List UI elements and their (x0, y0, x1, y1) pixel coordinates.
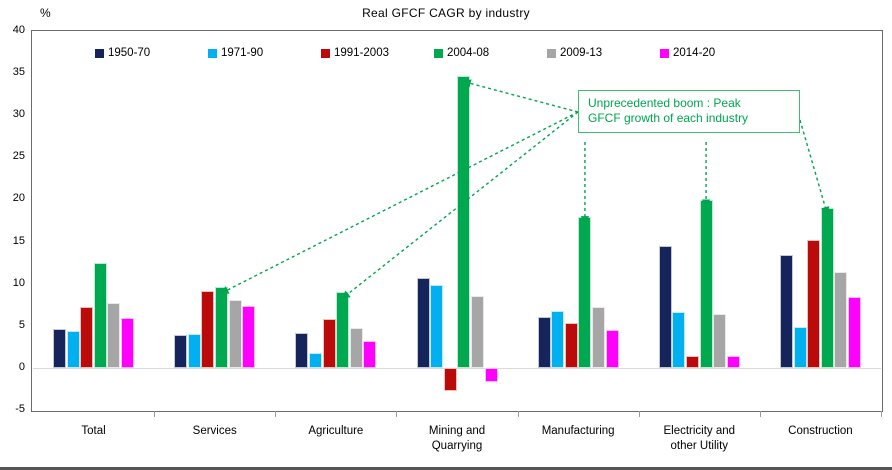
x-axis-label-line: Quarrying (429, 439, 485, 454)
bar (67, 331, 80, 368)
y-axis-tick-label: 15 (13, 235, 25, 247)
bar (686, 356, 699, 368)
bar (672, 312, 685, 368)
bar (350, 328, 363, 368)
bar (606, 330, 619, 368)
chart-container: % Real GFCF CAGR by industry 40353025201… (0, 0, 892, 470)
bar (659, 246, 672, 368)
x-axis-tick (518, 411, 519, 417)
bar (471, 296, 484, 368)
y-axis-tick-label: 20 (13, 192, 25, 204)
x-axis-tick (639, 411, 640, 417)
annotation-peak-growth-callout: Unprecedented boom : Peak GFCF growth of… (578, 90, 800, 133)
bar (309, 353, 322, 368)
bar (794, 327, 807, 368)
y-axis-tick-label: 0 (19, 361, 25, 373)
bar (834, 272, 847, 368)
bar (94, 263, 107, 368)
annotation-line-2: GFCF growth of each industry (588, 111, 792, 126)
bar (485, 368, 498, 382)
bar (80, 307, 93, 368)
bar (417, 278, 430, 368)
bar (107, 303, 120, 368)
bar (242, 306, 255, 367)
y-axis-tick-label: 35 (13, 66, 25, 78)
bar (336, 292, 349, 368)
y-axis-tick-label: -5 (15, 403, 25, 415)
x-axis-label-line: other Utility (663, 439, 735, 454)
bar (444, 368, 457, 391)
y-axis: 4035302520151050-5 (0, 30, 29, 412)
x-axis-category-label: Services (193, 424, 237, 439)
x-axis-label-line: Electricity and (663, 424, 735, 439)
x-axis: TotalServicesAgricultureMining andQuarry… (33, 416, 881, 466)
x-axis-category-label: Electricity andother Utility (663, 424, 735, 454)
x-axis-label-line: Manufacturing (542, 424, 615, 439)
bar (295, 333, 308, 368)
x-axis-tick (760, 411, 761, 417)
bar (363, 341, 376, 368)
x-axis-tick (881, 411, 882, 417)
x-axis-label-line: Construction (788, 424, 853, 439)
bar (201, 291, 214, 368)
bar (538, 317, 551, 368)
y-axis-tick-label: 10 (13, 277, 25, 289)
x-axis-category-label: Manufacturing (542, 424, 615, 439)
x-axis-label-line: Mining and (429, 424, 485, 439)
bar (565, 323, 578, 368)
bar (430, 285, 443, 368)
zero-baseline (33, 368, 881, 369)
bar (780, 255, 793, 368)
bar (713, 314, 726, 368)
bar (727, 356, 740, 368)
y-axis-tick-label: 25 (13, 150, 25, 162)
x-axis-label-line: Total (81, 424, 105, 439)
bar (323, 319, 336, 368)
x-axis-tick (396, 411, 397, 417)
bar (188, 334, 201, 368)
bar (121, 318, 134, 368)
y-axis-tick-label: 30 (13, 108, 25, 120)
bar (174, 335, 187, 368)
bar (592, 307, 605, 368)
x-axis-label-line: Services (193, 424, 237, 439)
x-axis-category-label: Mining andQuarrying (429, 424, 485, 454)
bar (457, 76, 470, 368)
x-axis-label-line: Agriculture (308, 424, 363, 439)
y-axis-tick-label: 40 (13, 24, 25, 36)
bar (215, 287, 228, 368)
x-axis-category-label: Agriculture (308, 424, 363, 439)
x-axis-category-label: Total (81, 424, 105, 439)
annotation-line-1: Unprecedented boom : Peak (588, 96, 792, 111)
bar (578, 217, 591, 368)
x-axis-tick (275, 411, 276, 417)
chart-title: Real GFCF CAGR by industry (0, 6, 892, 20)
x-axis-tick (154, 411, 155, 417)
bar (551, 311, 564, 368)
bars-layer (33, 31, 881, 410)
bar (229, 300, 242, 368)
x-axis-category-label: Construction (788, 424, 853, 439)
bar (700, 200, 713, 368)
bar (821, 208, 834, 368)
bar (807, 240, 820, 368)
bar (53, 329, 66, 368)
bar (848, 297, 861, 368)
y-axis-tick-label: 5 (19, 319, 25, 331)
